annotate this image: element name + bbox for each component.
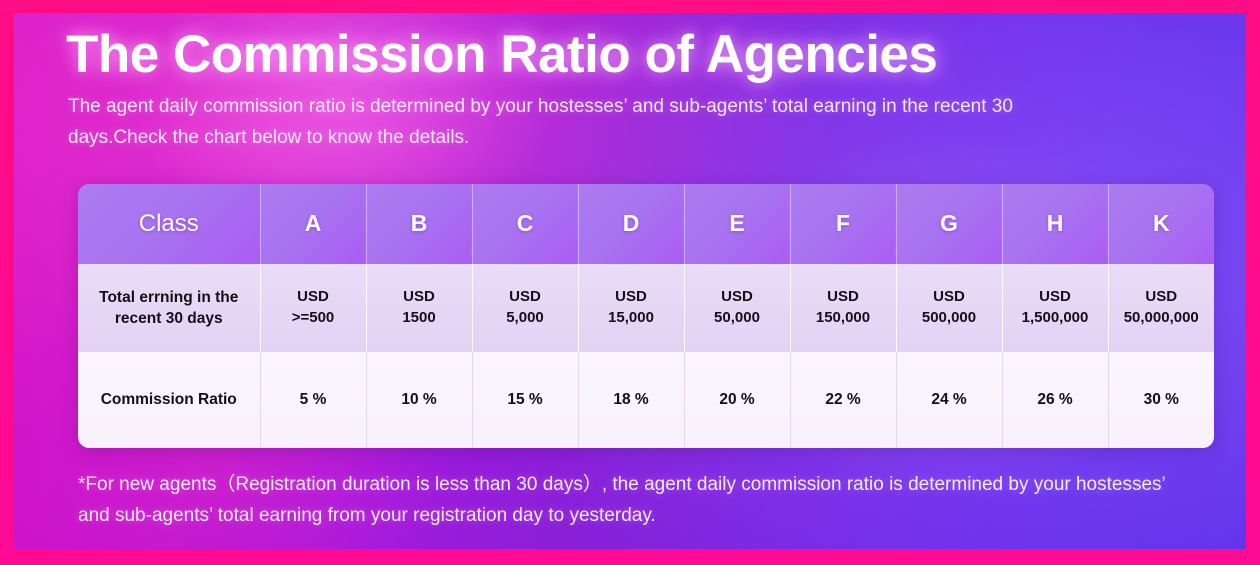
currency-label: USD	[1113, 287, 1211, 308]
earnings-cell-h: USD 1,500,000	[1002, 264, 1108, 352]
header-class-b: B	[366, 184, 472, 264]
header-class-k: K	[1108, 184, 1214, 264]
earnings-value: 50,000,000	[1113, 308, 1211, 329]
ratio-cell-g: 24 %	[896, 352, 1002, 448]
commission-table-wrapper: Class A B C D E F G H K	[78, 184, 1214, 448]
currency-label: USD	[583, 287, 680, 308]
earnings-cell-d: USD 15,000	[578, 264, 684, 352]
currency-label: USD	[901, 287, 998, 308]
header-class-c: C	[472, 184, 578, 264]
content-area: The Commission Ratio of Agencies The age…	[14, 13, 1246, 531]
ratio-cell-k: 30 %	[1108, 352, 1214, 448]
header-class-h: H	[1002, 184, 1108, 264]
currency-label: USD	[689, 287, 786, 308]
promo-banner: The Commission Ratio of Agencies The age…	[0, 0, 1260, 565]
gradient-panel: The Commission Ratio of Agencies The age…	[14, 13, 1246, 549]
earnings-value: 5,000	[477, 308, 574, 329]
earnings-value: 50,000	[689, 308, 786, 329]
ratio-cell-d: 18 %	[578, 352, 684, 448]
currency-label: USD	[371, 287, 468, 308]
earnings-value: >=500	[265, 308, 362, 329]
earnings-cell-e: USD 50,000	[684, 264, 790, 352]
ratio-cell-a: 5 %	[260, 352, 366, 448]
earnings-value: 1,500,000	[1007, 308, 1104, 329]
earnings-value: 150,000	[795, 308, 892, 329]
earnings-row-label: Total errning in the recent 30 days	[78, 264, 260, 352]
header-class-f: F	[790, 184, 896, 264]
earnings-cell-k: USD 50,000,000	[1108, 264, 1214, 352]
footnote-text: *For new agents（Registration duration is…	[78, 470, 1194, 532]
currency-label: USD	[795, 287, 892, 308]
earnings-cell-f: USD 150,000	[790, 264, 896, 352]
header-class-label: Class	[78, 184, 260, 264]
ratio-cell-h: 26 %	[1002, 352, 1108, 448]
page-subtitle: The agent daily commission ratio is dete…	[68, 92, 1078, 154]
earnings-cell-a: USD >=500	[260, 264, 366, 352]
earnings-cell-b: USD 1500	[366, 264, 472, 352]
header-class-e: E	[684, 184, 790, 264]
commission-table: Class A B C D E F G H K	[78, 184, 1214, 448]
table-row: Total errning in the recent 30 days USD …	[78, 264, 1214, 352]
header-class-a: A	[260, 184, 366, 264]
header-class-g: G	[896, 184, 1002, 264]
earnings-value: 1500	[371, 308, 468, 329]
ratio-cell-c: 15 %	[472, 352, 578, 448]
currency-label: USD	[265, 287, 362, 308]
ratio-cell-f: 22 %	[790, 352, 896, 448]
earnings-value: 500,000	[901, 308, 998, 329]
earnings-cell-c: USD 5,000	[472, 264, 578, 352]
page-title: The Commission Ratio of Agencies	[66, 13, 1194, 84]
currency-label: USD	[1007, 287, 1104, 308]
ratio-cell-b: 10 %	[366, 352, 472, 448]
table-row: Commission Ratio 5 % 10 % 15 % 18 % 20 %…	[78, 352, 1214, 448]
table-header-row: Class A B C D E F G H K	[78, 184, 1214, 264]
ratio-row-label: Commission Ratio	[78, 352, 260, 448]
ratio-cell-e: 20 %	[684, 352, 790, 448]
currency-label: USD	[477, 287, 574, 308]
earnings-cell-g: USD 500,000	[896, 264, 1002, 352]
earnings-value: 15,000	[583, 308, 680, 329]
header-class-d: D	[578, 184, 684, 264]
